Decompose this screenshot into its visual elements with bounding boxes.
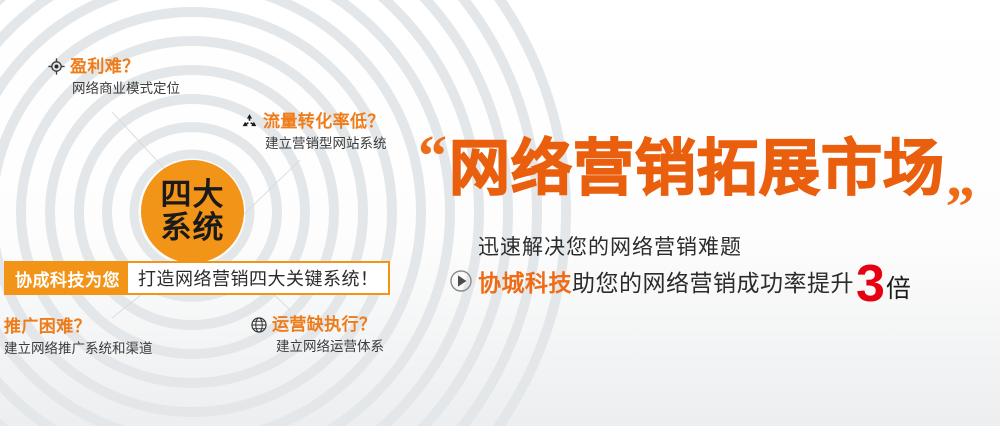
multiplier-value: 3 [856, 264, 885, 306]
play-circle-icon [449, 269, 473, 293]
multiplier-unit: 倍 [886, 269, 911, 305]
marketing-banner: 盈利难？ 网络商业模式定位 流量转化率低？ 建立营销型网站系统 推广困难？ 建立… [0, 0, 1000, 426]
headline-block: “ 网络营销拓展市场 „ [418, 138, 975, 216]
subline-1: 迅速解决您的网络营销难题 [478, 231, 742, 261]
globe-icon [250, 316, 267, 333]
node-profit-title: 盈利难？ [70, 58, 140, 75]
node-operations: 运营缺执行？ 建立网络运营体系 [250, 316, 384, 354]
core-circle: 四大 系统 [141, 160, 244, 263]
quote-open-icon: “ [418, 138, 447, 174]
core-line-1: 四大 [161, 179, 225, 212]
node-profit-head: 盈利难？ [48, 58, 180, 75]
subline-2-brand: 协城科技 [478, 264, 572, 298]
core-line-2: 系统 [161, 212, 225, 245]
node-promotion-head: 推广困难？ [4, 318, 153, 335]
subline-2-middle: 助您的网络营销成功率提升 [572, 264, 854, 298]
node-profit: 盈利难？ 网络商业模式定位 [48, 58, 180, 96]
quote-close-icon: „ [946, 138, 975, 216]
node-promotion: 推广困难？ 建立网络推广系统和渠道 [4, 318, 153, 356]
recycle-icon [241, 113, 258, 130]
node-operations-title: 运营缺执行？ [272, 316, 376, 333]
node-traffic-title: 流量转化率低？ [263, 113, 385, 130]
node-traffic-subtitle: 建立营销型网站系统 [265, 137, 387, 151]
node-profit-subtitle: 网络商业模式定位 [72, 82, 180, 96]
node-promotion-subtitle: 建立网络推广系统和渠道 [4, 342, 153, 356]
node-traffic: 流量转化率低？ 建立营销型网站系统 [241, 113, 387, 151]
node-operations-head: 运营缺执行？ [250, 316, 384, 333]
slogan-bar-brand: 协成科技为您 [6, 263, 128, 293]
node-traffic-head: 流量转化率低？ [241, 113, 387, 130]
slogan-bar-message: 打造网络营销四大关键系统！ [128, 263, 388, 293]
subline-2: 协城科技 助您的网络营销成功率提升 3 倍 [449, 260, 911, 302]
crosshair-target-icon [48, 58, 65, 75]
headline-text: 网络营销拓展市场 [449, 138, 945, 199]
node-promotion-title: 推广困难？ [4, 318, 91, 335]
slogan-bar: 协成科技为您 打造网络营销四大关键系统！ [4, 261, 390, 295]
node-operations-subtitle: 建立网络运营体系 [276, 340, 384, 354]
